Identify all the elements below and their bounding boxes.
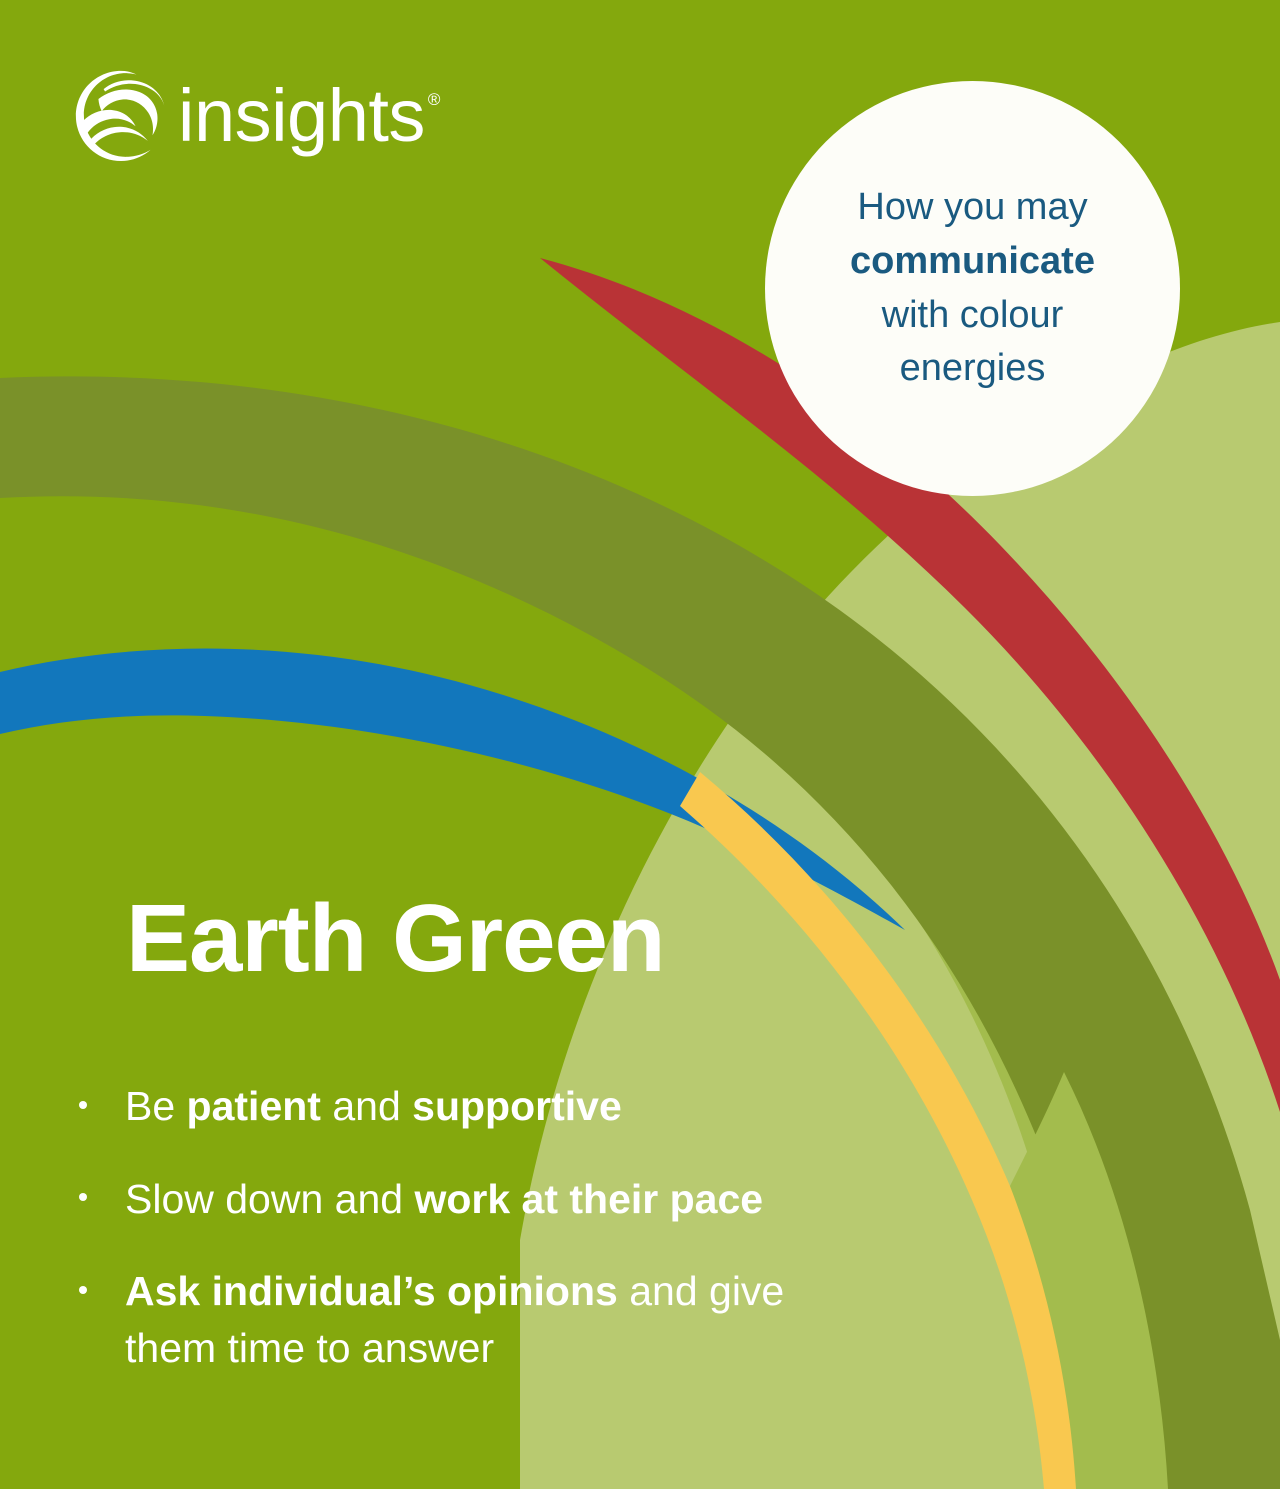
list-item-emphasis: Ask individual’s opinions xyxy=(125,1268,618,1314)
bullet-dot-icon xyxy=(79,1193,87,1201)
callout-line-2-emphasis: communicate xyxy=(850,240,1095,282)
callout-line-1: How you may xyxy=(857,186,1087,228)
list-item-emphasis: patient xyxy=(187,1083,321,1129)
insights-wordmark: insights ® xyxy=(178,81,440,151)
list-item-text: Slow down and xyxy=(125,1176,414,1222)
callout-line-4: energies xyxy=(900,347,1046,389)
poster-canvas: insights ® How you may communicate with … xyxy=(0,0,1280,1489)
logo-word-text: insights xyxy=(178,81,425,151)
list-item: Slow down and work at their pace xyxy=(70,1171,870,1228)
bullet-dot-icon xyxy=(79,1101,87,1109)
list-item: Be patient and supportive xyxy=(70,1078,870,1135)
list-item-text: and xyxy=(321,1083,412,1129)
list-item-emphasis: supportive xyxy=(412,1083,622,1129)
bullet-dot-icon xyxy=(79,1286,87,1294)
list-item-text: Be xyxy=(125,1083,187,1129)
list-item-emphasis: work at their pace xyxy=(414,1176,763,1222)
callout-line-3: with colour xyxy=(882,294,1064,336)
callout-circle: How you may communicate with colour ener… xyxy=(765,81,1180,496)
insights-swirl-logo-icon xyxy=(74,68,168,162)
insights-logo[interactable]: insights ® xyxy=(74,68,440,162)
registered-trademark-symbol: ® xyxy=(428,91,441,108)
list-item: Ask individual’s opinions and give them … xyxy=(70,1263,870,1376)
page-title: Earth Green xyxy=(126,889,665,990)
callout-text: How you may communicate with colour ener… xyxy=(808,181,1138,397)
tips-list: Be patient and supportiveSlow down and w… xyxy=(70,1078,870,1376)
